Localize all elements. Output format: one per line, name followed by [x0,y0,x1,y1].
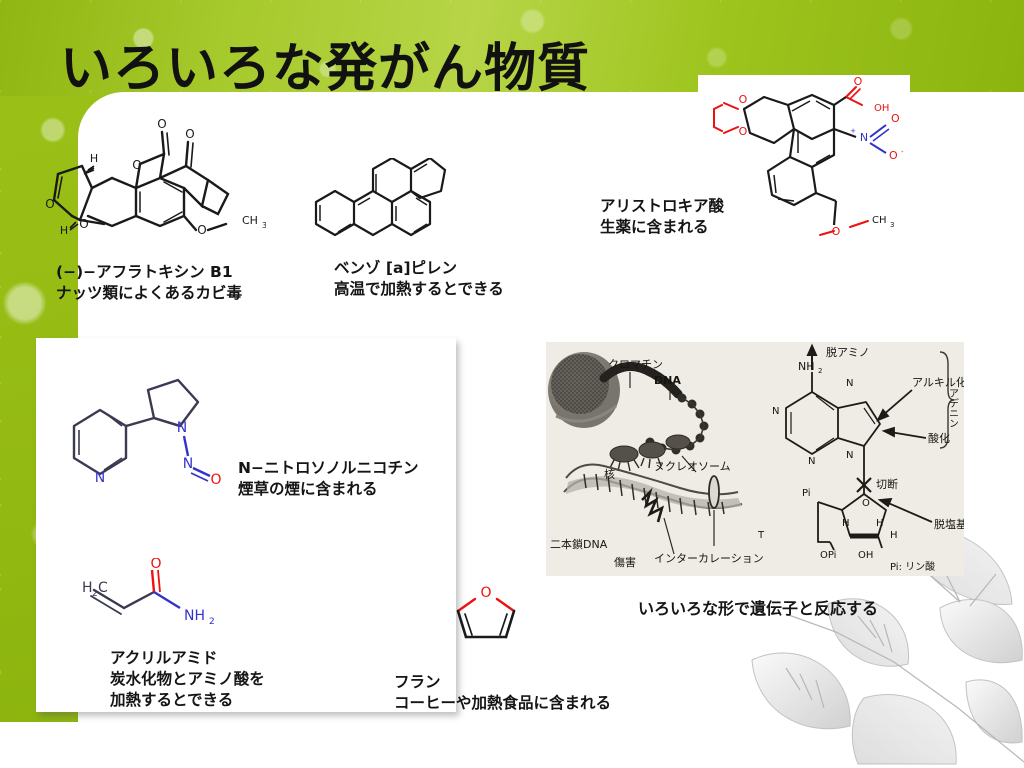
atom-label-o: O [739,125,748,138]
aristolochic-acid-description: 生薬に含まれる [600,218,709,236]
atom-label-o: O [150,558,161,572]
dna-label-double-strand: 二本鎖DNA [550,537,608,551]
furan-caption: フランコーヒーや加熱食品に含まれる [394,672,611,714]
dna-label-chromatin: クロマチン [608,358,663,371]
furan-name: フラン [394,673,441,691]
dna-label-h: H [876,518,884,529]
nitrosonornicotine-caption: N−ニトロソノルニコチン煙草の煙に含まれる [238,458,419,500]
dna-label-pi-note: Pi: リン酸 [890,560,935,573]
nitrosonornicotine-description: 煙草の煙に含まれる [238,480,378,498]
atom-label-o: O [210,472,221,488]
furan-description: コーヒーや加熱食品に含まれる [394,694,611,712]
dna-label-n: N [846,378,853,389]
atom-label-ch3-sub: 3 [890,221,894,229]
nitrosonornicotine-structure: N N N O [62,378,242,508]
atom-label-ch3: CH [242,214,258,227]
dna-figure-caption: いろいろな形で遺伝子と反応する [638,598,878,619]
dna-label-deamination: 脱アミノ [826,345,870,359]
atom-label-n: N [95,470,105,486]
acrylamide-caption: アクリルアミド炭水化物とアミノ酸を 加熱するとできる [110,648,265,710]
atom-label-o: O [79,217,88,231]
dna-label-alkylation: アルキル化 [912,375,964,389]
dna-reaction-figure: クロマチン DNA 核 ヌクレオソーム 二本鎖DNA 傷害 インターカレーション… [546,342,964,576]
dna-label-intercalation: インターカレーション [654,552,764,565]
dna-label-adenine: アデニン [947,388,959,428]
dna-label-h: H [842,518,850,529]
atom-label-o: O [739,93,748,106]
atom-label-ch3-sub: 3 [262,221,266,230]
benzopyrene-description: 高温で加熱するとできる [334,280,504,298]
aflatoxin-structure: O O O O O O H H CH 3 [36,108,266,258]
aristolochic-acid-structure: O O O OH N + O O - O CH 3 [698,75,912,265]
dna-label-cleavage: 切断 [876,477,898,491]
atom-label-oh: OH [874,103,889,114]
dna-label-n: N [808,456,815,467]
atom-label-o: O [480,585,491,601]
atom-label-h2c: H [82,580,93,596]
atom-label-o: O [854,75,863,88]
atom-label-h2c-sub: 2 [92,589,98,599]
slide-canvas: いろいろな発がん物質 [0,0,1024,768]
dna-label-nh2-sub: 2 [818,367,822,375]
aflatoxin-caption: (−)−アフラトキシン B1ナッツ類によくあるカビ毒 [56,262,242,304]
atom-label-o-charge: - [901,148,904,156]
aflatoxin-name: (−)−アフラトキシン B1 [56,263,233,281]
benzopyrene-caption: ベンゾ [a]ピレン高温で加熱するとできる [334,258,504,300]
atom-label-o: O [185,127,194,141]
atom-label-n: N [860,131,868,144]
dna-label-n: N [846,450,853,461]
acrylamide-description: 炭水化物とアミノ酸を 加熱するとできる [110,670,265,709]
atom-label-o: O [891,112,900,125]
acrylamide-structure: H 2 C O NH 2 [72,558,222,648]
dna-label-dna: DNA [654,374,681,387]
atom-label-h: H [90,152,98,165]
atom-label-nh2-sub: 2 [209,617,215,627]
dna-label-h: H [890,530,898,541]
atom-label-ch3: CH [872,215,887,226]
aristolochic-acid-caption: アリストロキア酸生薬に含まれる [600,196,724,238]
atom-label-n: N [183,456,193,472]
aflatoxin-description: ナッツ類によくあるカビ毒 [56,284,242,302]
atom-label-n: N [177,420,187,436]
nitrosonornicotine-name: N−ニトロソノルニコチン [238,459,419,477]
dna-label-nucleosome: ヌクレオソーム [654,460,731,473]
dna-label-oh: OH [858,550,873,561]
dna-label-depurination: 脱塩基 [934,517,964,531]
atom-label-o: O [832,225,841,238]
atom-label-o: O [45,197,54,211]
dna-label-nh2: NH [798,360,815,373]
atom-label-o: O [157,117,166,131]
atom-label-o: O [132,158,141,172]
aristolochic-acid-name: アリストロキア酸 [600,197,724,215]
dna-label-t: T [757,530,765,541]
dna-label-oxidation: 酸化 [928,431,950,445]
atom-label-h: H [60,224,68,237]
atom-label-n-charge: + [850,127,856,135]
benzopyrene-structure [308,158,448,248]
acrylamide-name: アクリルアミド [110,649,217,667]
furan-structure: O [448,583,524,649]
dna-label-opi: OPi [820,550,836,561]
atom-label-nh2: NH [184,608,205,624]
dna-label-damage: 傷害 [614,555,636,569]
dna-label-pi: Pi [802,488,811,499]
slide-title: いろいろな発がん物質 [60,26,590,101]
atom-label-o-minus: O [889,149,898,162]
atom-label-o: O [197,223,206,237]
benzopyrene-name: ベンゾ [a]ピレン [334,259,457,277]
dna-label-nucleus: 核 [604,467,615,481]
dna-label-o: O [862,498,870,509]
dna-label-n: N [772,406,779,417]
atom-label-h2c-c: C [98,580,108,596]
